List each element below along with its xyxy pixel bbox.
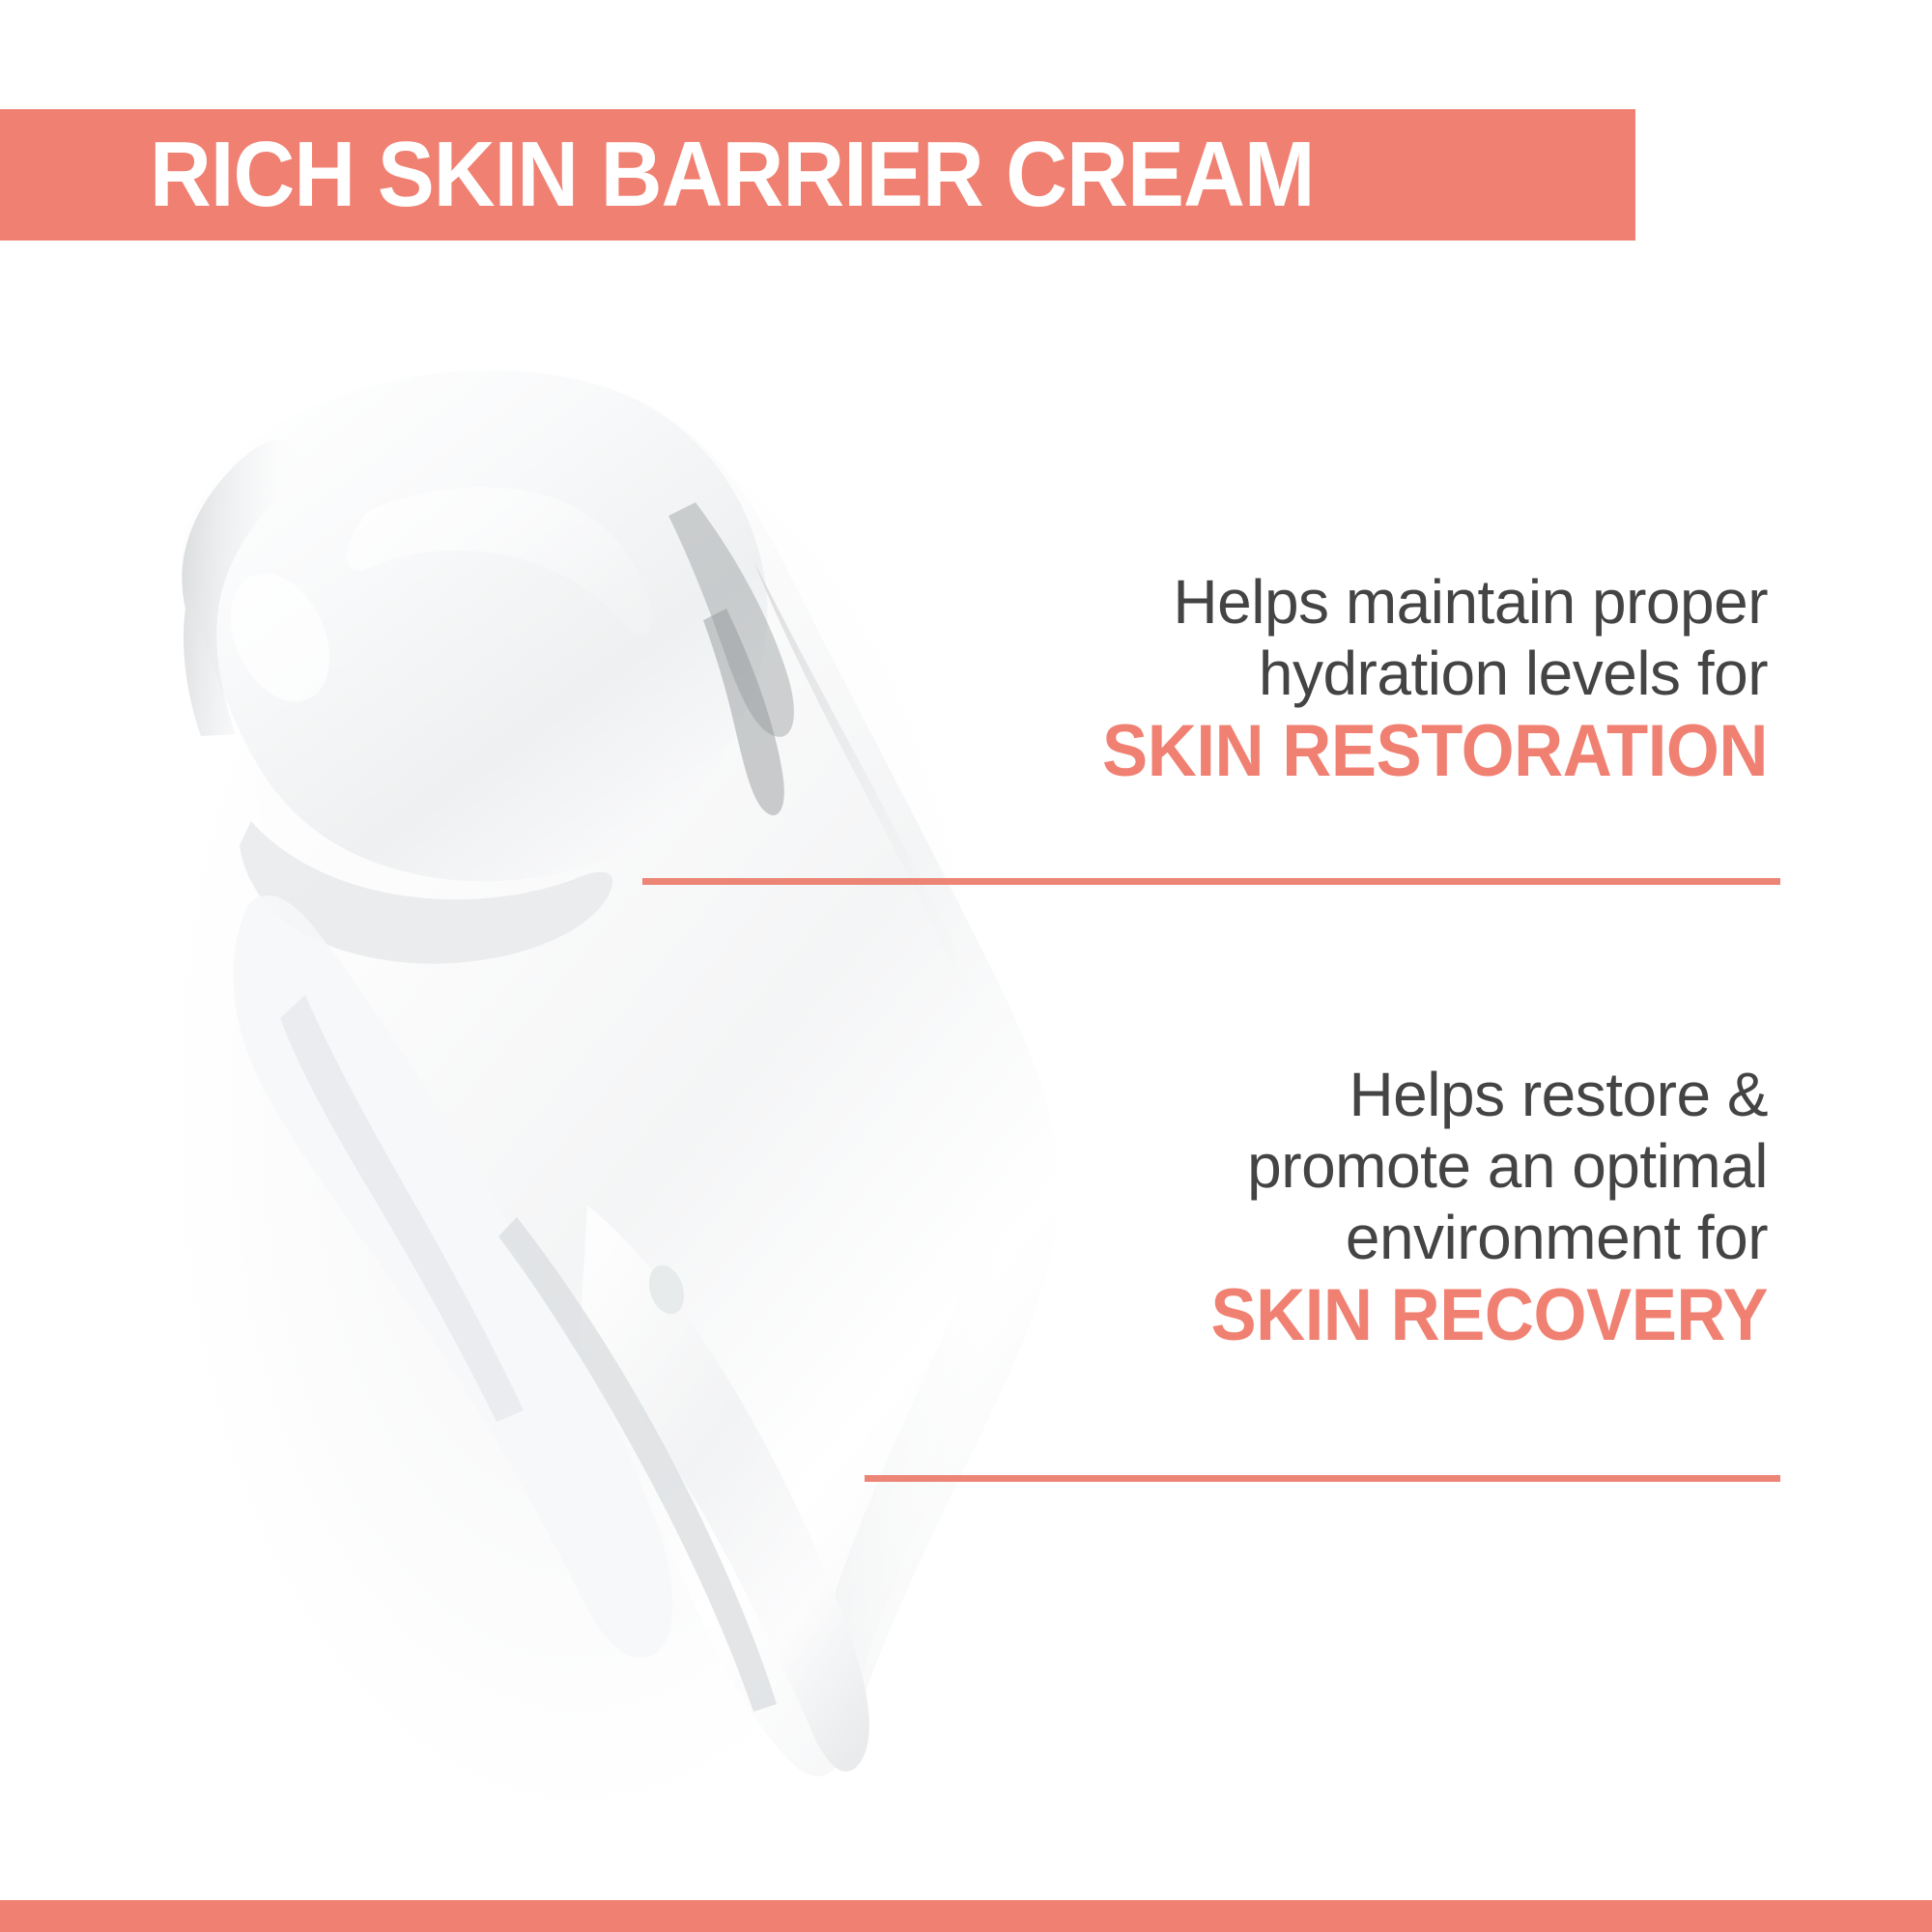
benefit-2-lead-line-2: promote an optimal — [898, 1130, 1768, 1202]
page-title: RICH SKIN BARRIER CREAM — [150, 127, 1315, 223]
benefit-1-lead-line-1: Helps maintain proper — [898, 566, 1768, 638]
benefit-2-lead-line-1: Helps restore & — [898, 1059, 1768, 1130]
benefit-2-lead-line-3: environment for — [898, 1202, 1768, 1273]
divider-rule-1 — [642, 878, 1780, 885]
benefit-block-recovery: Helps restore & promote an optimal envir… — [898, 1059, 1768, 1358]
footer-bar — [0, 1900, 1932, 1932]
benefit-1-lead-line-2: hydration levels for — [898, 638, 1768, 709]
infographic-canvas: RICH SKIN BARRIER CREAM — [0, 0, 1932, 1932]
benefit-1-headline: SKIN RESTORATION — [959, 709, 1768, 794]
divider-rule-2 — [865, 1475, 1780, 1482]
benefit-block-restoration: Helps maintain proper hydration levels f… — [898, 566, 1768, 794]
benefit-2-headline: SKIN RECOVERY — [959, 1273, 1768, 1358]
header-bar: RICH SKIN BARRIER CREAM — [0, 109, 1635, 241]
